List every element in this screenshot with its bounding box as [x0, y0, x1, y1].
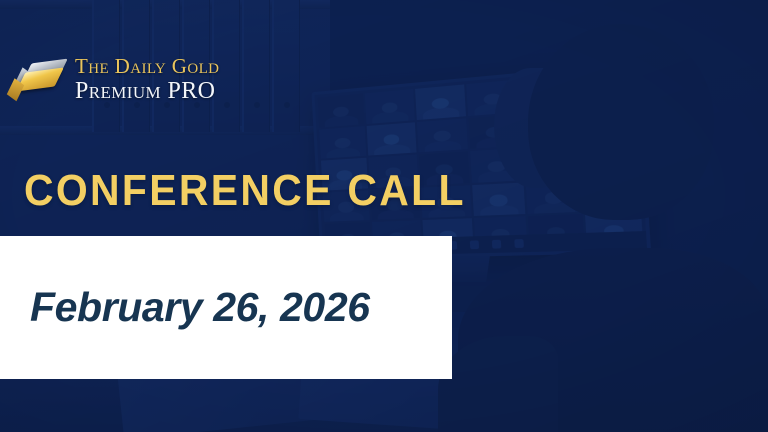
brand-name-primary: The Daily Gold — [75, 56, 219, 77]
brand-logo[interactable]: The Daily Gold Premium PRO — [20, 56, 219, 103]
gold-bars-icon — [20, 58, 66, 102]
conference-call-banner: The Daily Gold Premium PRO CONFERENCE CA… — [0, 0, 768, 432]
page-title: CONFERENCE CALL — [24, 166, 466, 216]
event-date: February 26, 2026 — [30, 284, 370, 331]
brand-name-secondary: Premium PRO — [75, 79, 219, 103]
brand-logo-text: The Daily Gold Premium PRO — [75, 56, 219, 103]
date-panel: February 26, 2026 — [0, 236, 452, 379]
